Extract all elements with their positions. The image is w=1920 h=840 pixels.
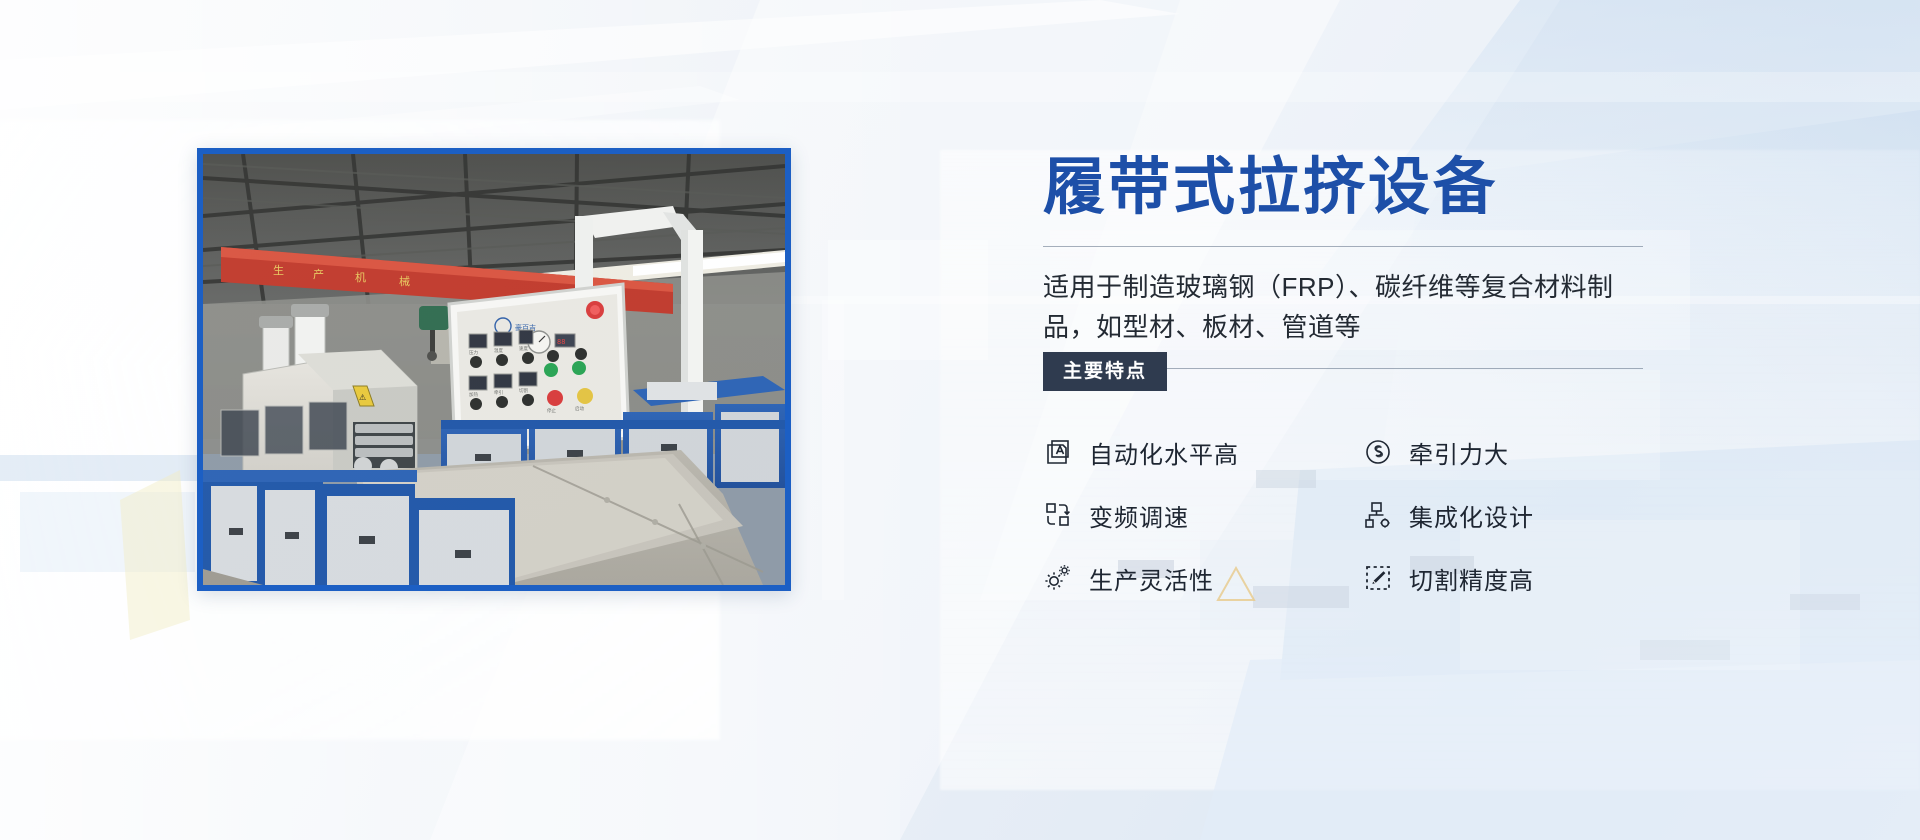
feature-label: 自动化水平高 — [1089, 435, 1239, 470]
dashed-pen-icon — [1363, 563, 1393, 593]
boxed-letter-a-icon — [1043, 437, 1073, 467]
feature-label: 变频调速 — [1089, 498, 1189, 533]
product-description: 适用于制造玻璃钢（FRP）、碳纤维等复合材料制品，如型材、板材、管道等 — [1043, 267, 1643, 348]
features-badge: 主要特点 — [1043, 352, 1167, 392]
workshop-photo-illustration: 生 产 机 械 豪百吉 — [203, 154, 785, 585]
feature-list: 自动化水平高 牵引力大 — [1043, 435, 1653, 596]
feature-label: 牵引力大 — [1409, 435, 1509, 470]
feature-item-traction[interactable]: 牵引力大 — [1363, 435, 1683, 470]
product-photo-card[interactable]: 生 产 机 械 豪百吉 — [197, 148, 791, 591]
banner-content: 履带式拉挤设备 适用于制造玻璃钢（FRP）、碳纤维等复合材料制品，如型材、板材、… — [1043, 155, 1653, 596]
feature-label: 生产灵活性 — [1089, 561, 1214, 596]
divider-top — [1043, 246, 1643, 247]
integration-nodes-icon — [1363, 500, 1393, 530]
feature-item-frequency[interactable]: 变频调速 — [1043, 498, 1363, 533]
product-banner: 生 产 机 械 豪百吉 — [0, 0, 1920, 840]
page-title: 履带式拉挤设备 — [1043, 155, 1653, 222]
feature-item-integration[interactable]: 集成化设计 — [1363, 498, 1683, 533]
feature-item-cutting-precision[interactable]: 切割精度高 — [1363, 561, 1683, 596]
traction-circle-icon — [1363, 437, 1393, 467]
feature-item-automation[interactable]: 自动化水平高 — [1043, 435, 1363, 470]
gears-icon — [1043, 563, 1073, 593]
feature-label: 切割精度高 — [1409, 561, 1534, 596]
frequency-nodes-icon — [1043, 500, 1073, 530]
feature-item-flexibility[interactable]: 生产灵活性 — [1043, 561, 1363, 596]
product-photo: 生 产 机 械 豪百吉 — [203, 154, 785, 585]
feature-label: 集成化设计 — [1409, 498, 1534, 533]
